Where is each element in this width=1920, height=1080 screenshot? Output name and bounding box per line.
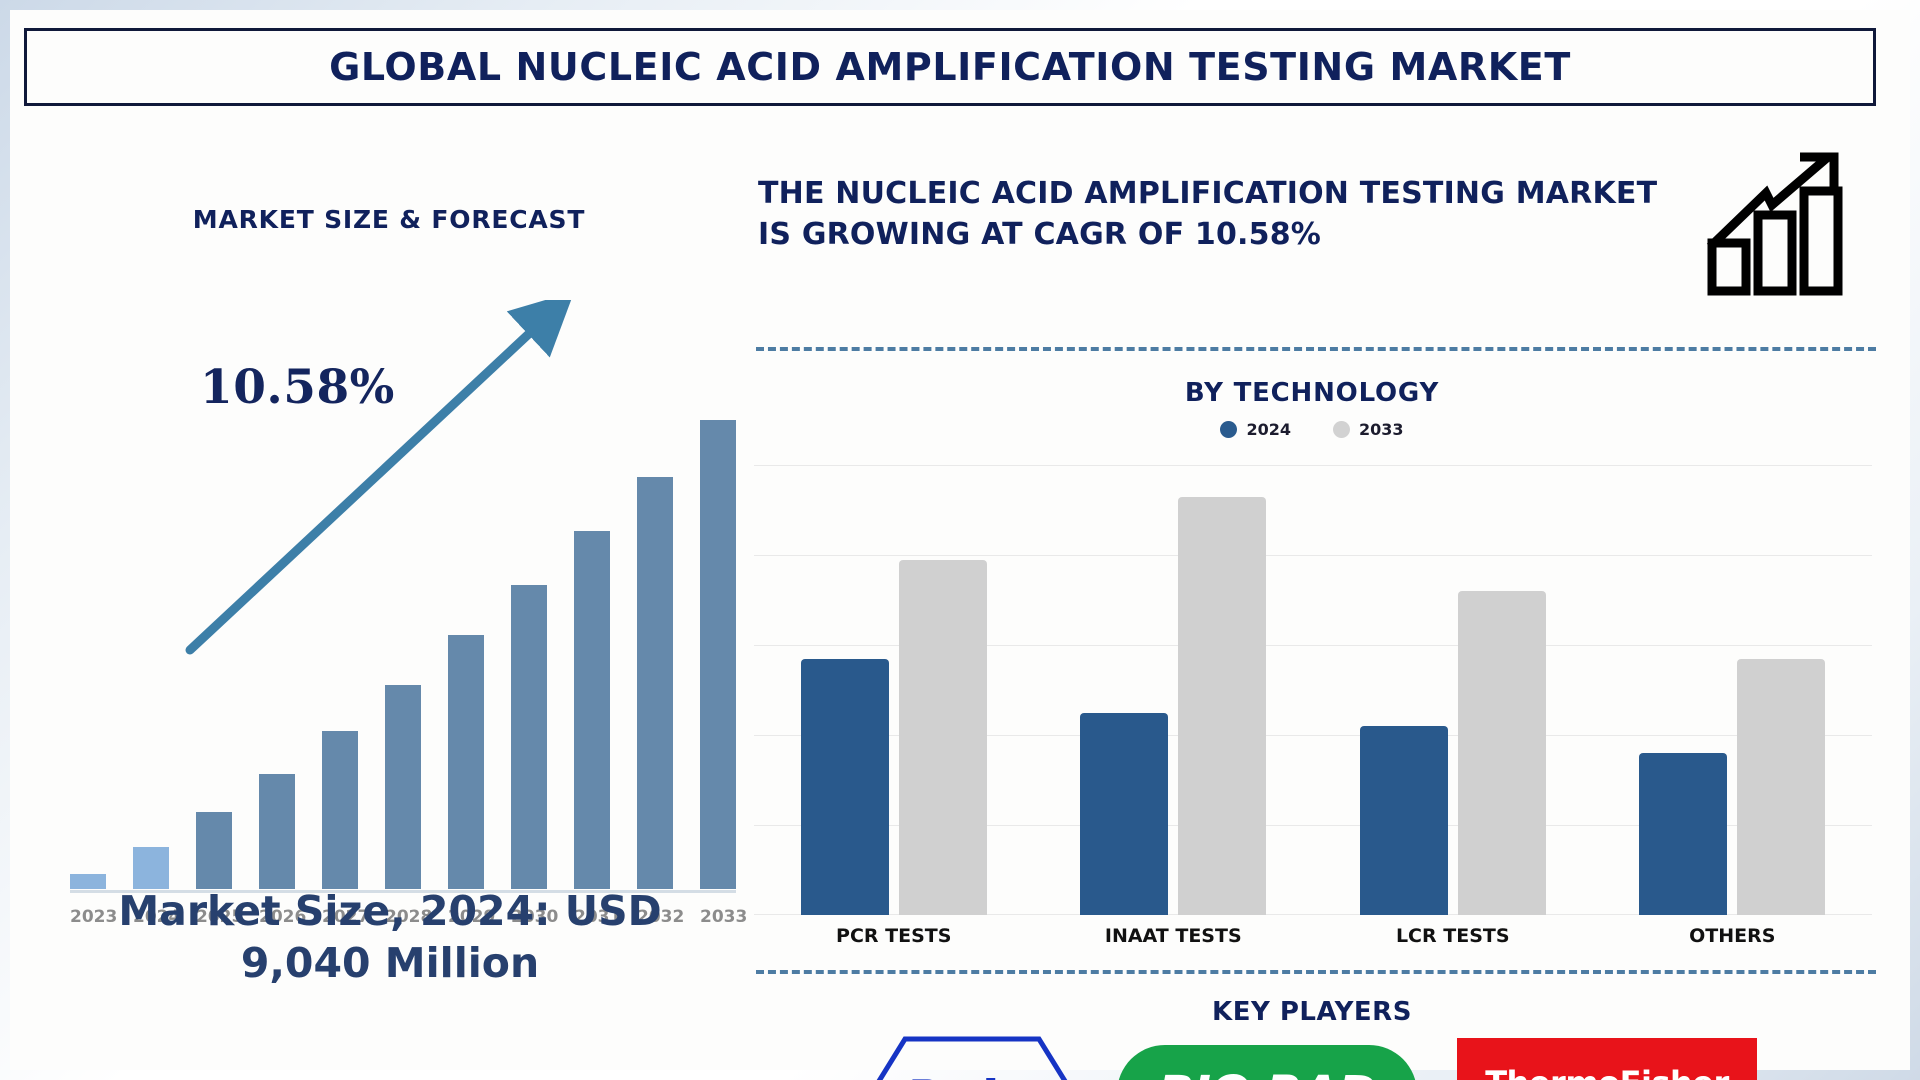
forecast-bar-2031 (574, 531, 610, 889)
page-title: GLOBAL NUCLEIC ACID AMPLIFICATION TESTIN… (329, 45, 1571, 89)
by-technology-title: BY TECHNOLOGY (752, 378, 1872, 408)
forecast-bar-2025 (196, 812, 232, 889)
technology-label-others: OTHERS (1622, 925, 1842, 947)
technology-label-inaat-tests: INAAT TESTS (1063, 925, 1283, 947)
technology-bar-inaat-tests-2024 (1080, 713, 1168, 916)
forecast-bar-2028 (385, 685, 421, 889)
divider-top (756, 347, 1876, 351)
technology-bar-pcr-tests-2024 (801, 659, 889, 916)
key-players-logos: Roche BIO RAD ThermoFisher SCIENTIFIC (752, 1035, 1872, 1080)
market-size-forecast-heading: MARKET SIZE & FORECAST (30, 205, 748, 234)
market-size-line1: Market Size, 2024: USD (118, 887, 661, 935)
logo-thermo-fisher: ThermoFisher SCIENTIFIC (1457, 1038, 1757, 1080)
forecast-bar-2026 (259, 774, 295, 889)
forecast-bar-2027 (322, 731, 358, 889)
forecast-bar-2030 (511, 585, 547, 889)
logo-roche-text: Roche (911, 1073, 1033, 1080)
technology-bar-pcr-tests-2033 (899, 560, 987, 916)
forecast-bar-2033 (700, 420, 736, 889)
legend-label-2024: 2024 (1246, 420, 1291, 439)
forecast-bars (58, 389, 748, 889)
technology-bar-lcr-tests-2024 (1360, 726, 1448, 915)
technology-group-lcr-tests (1360, 591, 1546, 915)
technology-bar-others-2024 (1639, 753, 1727, 915)
legend-dot-2033 (1333, 421, 1350, 438)
infographic-page: GLOBAL NUCLEIC ACID AMPLIFICATION TESTIN… (0, 0, 1920, 1080)
technology-bar-others-2033 (1737, 659, 1825, 916)
left-panel: MARKET SIZE & FORECAST 10.58% 2023202420… (30, 125, 748, 1055)
title-banner: GLOBAL NUCLEIC ACID AMPLIFICATION TESTIN… (24, 28, 1876, 106)
logo-bio-rad: BIO RAD (1117, 1045, 1417, 1080)
technology-legend: 20242033 (752, 420, 1872, 439)
technology-bar-lcr-tests-2033 (1458, 591, 1546, 915)
divider-bottom (756, 970, 1876, 974)
by-technology-chart (754, 465, 1872, 915)
infographic-canvas: GLOBAL NUCLEIC ACID AMPLIFICATION TESTIN… (10, 10, 1910, 1070)
forecast-bar-2029 (448, 635, 484, 889)
growth-chart-icon (1704, 147, 1854, 297)
logo-thermo-fisher-text: ThermoFisher (1485, 1064, 1729, 1080)
market-size-line2: 9,040 Million (241, 939, 539, 987)
technology-bar-inaat-tests-2033 (1178, 497, 1266, 916)
legend-label-2033: 2033 (1359, 420, 1404, 439)
technology-group-others (1639, 659, 1825, 916)
cagr-headline: THE NUCLEIC ACID AMPLIFICATION TESTING M… (758, 173, 1658, 256)
technology-group-inaat-tests (1080, 497, 1266, 916)
legend-item-2033[interactable]: 2033 (1333, 420, 1404, 439)
legend-item-2024[interactable]: 2024 (1220, 420, 1291, 439)
market-size-value: Market Size, 2024: USD 9,040 Million (40, 885, 740, 990)
technology-label-lcr-tests: LCR TESTS (1343, 925, 1563, 947)
right-panel: THE NUCLEIC ACID AMPLIFICATION TESTING M… (752, 125, 1892, 1055)
logo-bio-rad-text: BIO RAD (1158, 1066, 1377, 1080)
technology-bar-groups (754, 465, 1872, 915)
technology-category-labels: PCR TESTSINAAT TESTSLCR TESTSOTHERS (754, 925, 1872, 947)
forecast-bar-2024 (133, 847, 169, 889)
key-players-title: KEY PLAYERS (752, 997, 1872, 1027)
forecast-bar-2032 (637, 477, 673, 889)
logo-roche: Roche (867, 1035, 1077, 1080)
legend-dot-2024 (1220, 421, 1237, 438)
technology-label-pcr-tests: PCR TESTS (784, 925, 1004, 947)
technology-group-pcr-tests (801, 560, 987, 916)
